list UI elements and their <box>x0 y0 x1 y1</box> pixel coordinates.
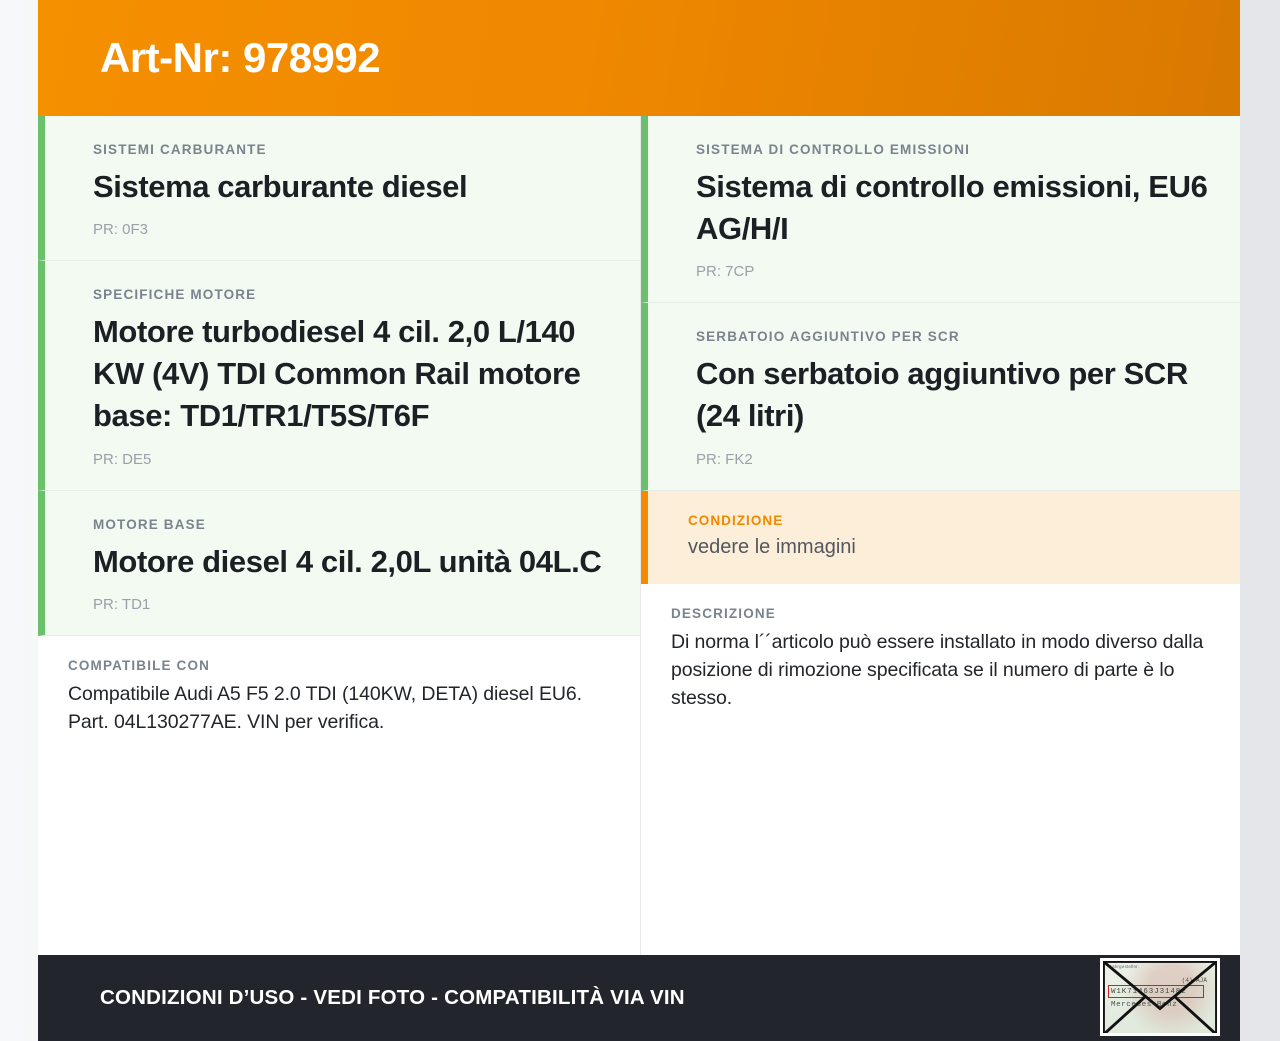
vin-document-thumbnail[interactable]: Fahrgestellnr. (4) AJA W1K71463J31482 Me… <box>1100 958 1220 1036</box>
description-text: Di norma l´´articolo può essere installa… <box>671 628 1210 712</box>
footer-text: CONDIZIONI D’USO - VEDI FOTO - COMPATIBI… <box>38 986 685 1010</box>
spec-value: Motore diesel 4 cil. 2,0L unità 04L.C <box>93 541 612 583</box>
spec-card-base-engine: MOTORE BASE Motore diesel 4 cil. 2,0L un… <box>38 491 640 636</box>
spec-label: SISTEMA DI CONTROLLO EMISSIONI <box>696 142 1212 157</box>
condition-card: CONDIZIONE vedere le immagini <box>641 491 1240 584</box>
spec-label: SISTEMI CARBURANTE <box>93 142 612 157</box>
spec-pr-code: PR: FK2 <box>696 451 1212 468</box>
spec-card-scr-tank: SERBATOIO AGGIUNTIVO PER SCR Con serbato… <box>641 303 1240 490</box>
spec-value: Sistema di controllo emissioni, EU6 AG/H… <box>696 166 1212 250</box>
spec-value: Motore turbodiesel 4 cil. 2,0 L/140 KW (… <box>93 311 612 437</box>
condition-label: CONDIZIONE <box>688 513 1212 528</box>
envelope-icon <box>1103 961 1217 1035</box>
spec-pr-code: PR: 0F3 <box>93 221 612 238</box>
page-title: Art-Nr: 978992 <box>38 34 380 82</box>
spec-value: Sistema carburante diesel <box>93 166 612 208</box>
right-column: SISTEMA DI CONTROLLO EMISSIONI Sistema d… <box>640 116 1240 955</box>
document-page: Art-Nr: 978992 SISTEMI CARBURANTE Sistem… <box>38 0 1240 1041</box>
left-column-filler <box>38 756 640 955</box>
compatibility-text: Compatibile Audi A5 F5 2.0 TDI (140KW, D… <box>68 680 610 736</box>
header-banner: Art-Nr: 978992 <box>38 0 1240 116</box>
description-label: DESCRIZIONE <box>671 606 1210 621</box>
compatibility-block: COMPATIBILE CON Compatibile Audi A5 F5 2… <box>38 636 640 756</box>
right-column-filler <box>641 732 1240 955</box>
spec-pr-code: PR: 7CP <box>696 263 1212 280</box>
spec-pr-code: PR: DE5 <box>93 451 612 468</box>
condition-value: vedere le immagini <box>688 534 1212 560</box>
spec-card-engine-specs: SPECIFICHE MOTORE Motore turbodiesel 4 c… <box>38 261 640 490</box>
spec-card-emissions-system: SISTEMA DI CONTROLLO EMISSIONI Sistema d… <box>641 116 1240 303</box>
compatibility-label: COMPATIBILE CON <box>68 658 610 673</box>
spec-label: MOTORE BASE <box>93 517 612 532</box>
content-columns: SISTEMI CARBURANTE Sistema carburante di… <box>38 116 1240 955</box>
left-column: SISTEMI CARBURANTE Sistema carburante di… <box>38 116 640 955</box>
spec-label: SPECIFICHE MOTORE <box>93 287 612 302</box>
footer-bar: CONDIZIONI D’USO - VEDI FOTO - COMPATIBI… <box>38 955 1240 1041</box>
spec-value: Con serbatoio aggiuntivo per SCR (24 lit… <box>696 353 1212 437</box>
spec-card-fuel-system: SISTEMI CARBURANTE Sistema carburante di… <box>38 116 640 261</box>
description-block: DESCRIZIONE Di norma l´´articolo può ess… <box>641 584 1240 732</box>
spec-label: SERBATOIO AGGIUNTIVO PER SCR <box>696 329 1212 344</box>
spec-pr-code: PR: TD1 <box>93 596 612 613</box>
